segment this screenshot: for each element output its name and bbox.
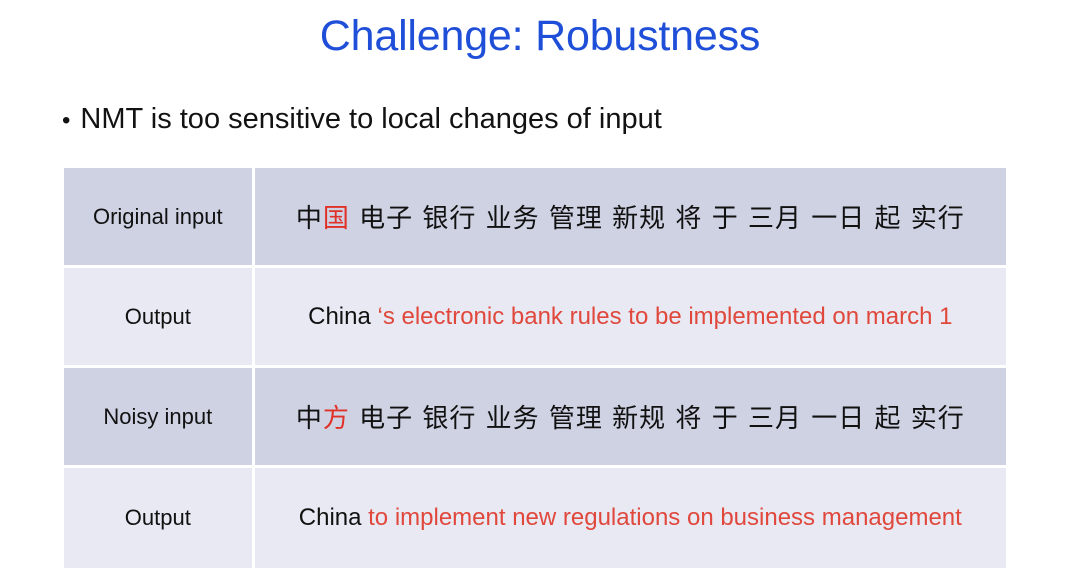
comparison-table-wrapper: Original input 中国 电子 银行 业务 管理 新规 将 于 三月 …: [64, 168, 1006, 568]
sentence-prefix: 中: [296, 204, 323, 234]
comparison-table: Original input 中国 电子 银行 业务 管理 新规 将 于 三月 …: [64, 168, 1006, 568]
table-row: Output China to implement new regulation…: [64, 468, 1006, 568]
sentence-highlight: 方: [323, 404, 350, 434]
row-label-original-input: Original input: [64, 168, 255, 268]
sentence-prefix: China: [308, 303, 377, 330]
sentence-highlight: to implement new regulations on business…: [368, 504, 962, 531]
row-label-output-2: Output: [64, 468, 255, 568]
table-body: Original input 中国 电子 银行 业务 管理 新规 将 于 三月 …: [64, 168, 1006, 568]
bullet-text: NMT is too sensitive to local changes of…: [80, 99, 661, 139]
row-value-original-input: 中国 电子 银行 业务 管理 新规 将 于 三月 一日 起 实行: [255, 168, 1006, 268]
table-row: Output China ‘s electronic bank rules to…: [64, 268, 1006, 368]
bullet-marker-icon: •: [62, 101, 70, 141]
sentence-suffix: 电子 银行 业务 管理 新规 将 于 三月 一日 起 实行: [350, 204, 965, 234]
table-row: Original input 中国 电子 银行 业务 管理 新规 将 于 三月 …: [64, 168, 1006, 268]
sentence-prefix: China: [299, 504, 368, 531]
row-label-noisy-input: Noisy input: [64, 368, 255, 468]
sentence-prefix: 中: [296, 404, 323, 434]
row-label-output-1: Output: [64, 268, 255, 368]
row-value-output-2: China to implement new regulations on bu…: [255, 468, 1006, 568]
source-sentence-zh: 中国 电子 银行 业务 管理 新规 将 于 三月 一日 起 实行: [296, 204, 965, 234]
table-row: Noisy input 中方 电子 银行 业务 管理 新规 将 于 三月 一日 …: [64, 368, 1006, 468]
sentence-highlight: ‘s electronic bank rules to be implement…: [378, 303, 953, 330]
bullet-line: • NMT is too sensitive to local changes …: [62, 99, 662, 141]
source-sentence-zh-noisy: 中方 电子 银行 业务 管理 新规 将 于 三月 一日 起 实行: [296, 404, 965, 434]
row-value-output-1: China ‘s electronic bank rules to be imp…: [255, 268, 1006, 368]
row-value-noisy-input: 中方 电子 银行 业务 管理 新规 将 于 三月 一日 起 实行: [255, 368, 1006, 468]
target-sentence-en: China ‘s electronic bank rules to be imp…: [308, 303, 952, 330]
sentence-suffix: 电子 银行 业务 管理 新规 将 于 三月 一日 起 实行: [350, 404, 965, 434]
target-sentence-en-noisy: China to implement new regulations on bu…: [299, 504, 962, 531]
sentence-highlight: 国: [323, 204, 350, 234]
page-title: Challenge: Robustness: [0, 8, 1080, 64]
